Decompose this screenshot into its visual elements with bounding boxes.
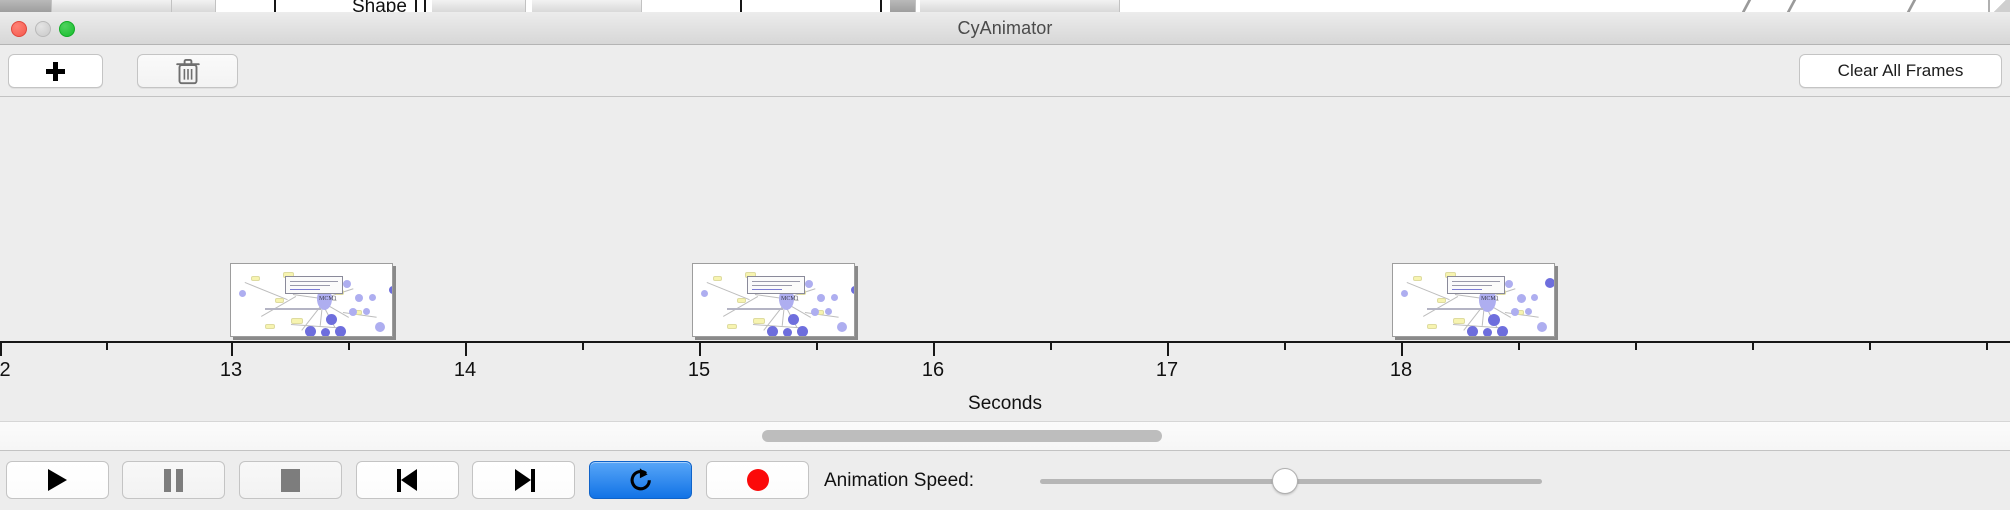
node-label-mcm1: MCM1 <box>1481 296 1499 302</box>
axis-tick-minor <box>1518 341 1520 350</box>
stop-icon <box>281 469 300 492</box>
axis-tick-minor <box>1050 341 1052 350</box>
axis-tick-minor <box>1284 341 1286 350</box>
delete-frame-button[interactable] <box>137 54 238 88</box>
network-preview: MCM1 <box>1393 264 1554 336</box>
axis-tick-minor <box>348 341 350 350</box>
axis-tick-minor <box>1986 341 1988 350</box>
axis-tick-label: 17 <box>1156 359 1178 382</box>
axis-tick-minor <box>1752 341 1754 350</box>
trash-icon <box>176 58 200 85</box>
skip-next-icon <box>513 469 535 492</box>
keyframe-thumbnail[interactable]: MCM1 <box>230 263 393 337</box>
cyanimator-window: CyAnimator Clear All Frames <box>0 12 2010 510</box>
axis-tick-label: 2 <box>0 359 11 382</box>
add-frame-button[interactable] <box>8 54 103 88</box>
window-titlebar: CyAnimator <box>0 12 2010 45</box>
keyframe-thumbnail[interactable]: MCM1 <box>1392 263 1555 337</box>
bg-resize-corner <box>1988 0 2010 12</box>
skip-previous-icon <box>397 469 419 492</box>
bg-decoration <box>1907 0 1927 12</box>
record-button[interactable] <box>706 461 809 499</box>
network-preview: MCM1 <box>693 264 854 336</box>
axis-tick <box>933 341 935 356</box>
bg-tick <box>415 0 417 12</box>
node-label-mcm1: MCM1 <box>319 296 337 302</box>
play-button[interactable] <box>6 461 109 499</box>
axis-tick-minor <box>1635 341 1637 350</box>
timeline-scrollbar-thumb[interactable] <box>762 430 1162 442</box>
axis-tick-label: 14 <box>454 359 476 382</box>
bg-segment <box>432 0 526 12</box>
window-title: CyAnimator <box>0 12 2010 45</box>
stop-button[interactable] <box>239 461 342 499</box>
axis-tick-label: 18 <box>1390 359 1412 382</box>
background-window-strip: Shape <box>0 0 2010 12</box>
bg-tick <box>424 0 426 12</box>
axis-tick-minor <box>816 341 818 350</box>
axis-tick-minor <box>582 341 584 350</box>
record-icon <box>747 469 769 491</box>
timeline-axis <box>0 341 2010 343</box>
frames-toolbar: Clear All Frames <box>0 45 2010 97</box>
animation-speed-label: Animation Speed: <box>824 451 974 511</box>
timeline-panel[interactable]: MCM1 <box>0 97 2010 421</box>
pause-icon <box>164 469 183 492</box>
timeline-scrollbar-track[interactable] <box>0 421 2010 450</box>
axis-tick <box>699 341 701 356</box>
plus-icon <box>46 62 65 81</box>
keyframe-thumbnail[interactable]: MCM1 <box>692 263 855 337</box>
node-label-mcm1: MCM1 <box>781 296 799 302</box>
axis-tick-label: 15 <box>688 359 710 382</box>
bg-decoration <box>1787 0 1807 12</box>
axis-tick-minor <box>1869 341 1871 350</box>
playback-toolbar: Animation Speed: <box>0 450 2010 510</box>
bg-tick <box>880 0 882 12</box>
next-frame-button[interactable] <box>472 461 575 499</box>
axis-tick-minor <box>106 341 108 350</box>
axis-tick <box>465 341 467 356</box>
axis-tick <box>231 341 233 356</box>
pause-button[interactable] <box>122 461 225 499</box>
bg-segment <box>920 0 1120 12</box>
axis-tick <box>1167 341 1169 356</box>
loop-button[interactable] <box>589 461 692 499</box>
axis-tick <box>1401 341 1403 356</box>
play-icon <box>48 469 67 491</box>
bg-decoration <box>1742 0 1762 12</box>
axis-caption-seconds: Seconds <box>0 393 2010 415</box>
network-preview: MCM1 <box>231 264 392 336</box>
axis-tick <box>0 341 2 356</box>
clear-all-frames-button[interactable]: Clear All Frames <box>1799 54 2002 88</box>
bg-tick <box>740 0 742 12</box>
bg-segment <box>532 0 642 12</box>
bg-segment <box>216 0 274 12</box>
axis-tick-label: 16 <box>922 359 944 382</box>
previous-frame-button[interactable] <box>356 461 459 499</box>
axis-tick-label: 13 <box>220 359 242 382</box>
bg-segment <box>52 0 172 12</box>
animation-speed-slider-thumb[interactable] <box>1272 468 1298 494</box>
loop-icon <box>627 466 655 494</box>
bg-segment <box>0 0 52 12</box>
bg-segment <box>172 0 216 12</box>
bg-segment <box>890 0 916 12</box>
